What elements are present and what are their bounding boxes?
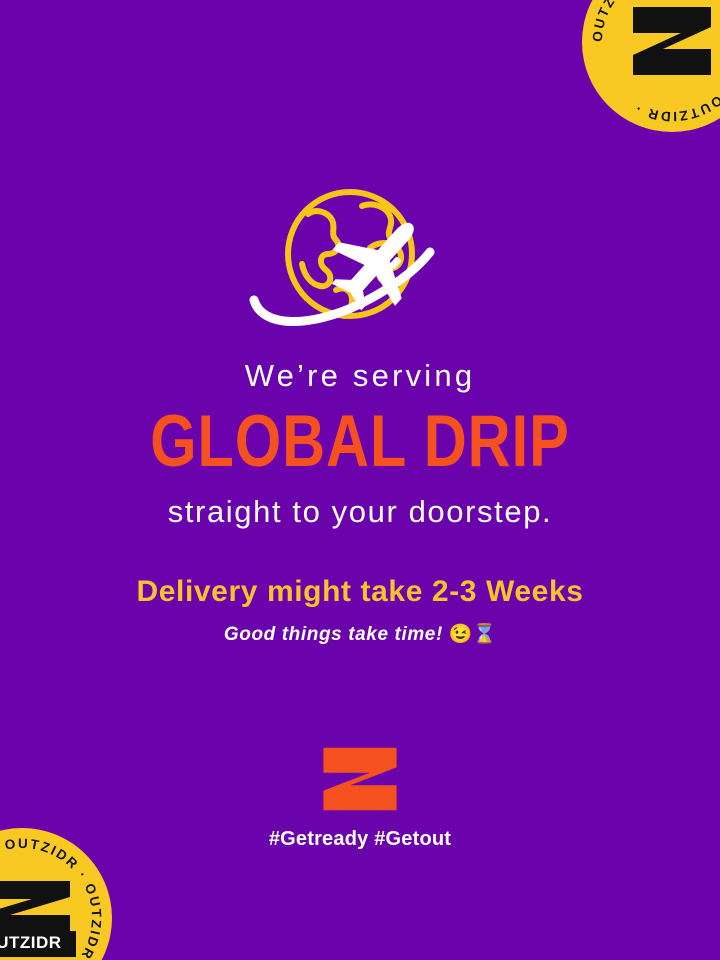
z-logo-icon [0, 879, 74, 937]
hourglass-emoji-icon: ⌛ [472, 624, 496, 645]
badge-core-top-right [618, 5, 720, 79]
brand-z-logo-icon [321, 746, 399, 812]
globe-airplane-illustration [240, 178, 480, 338]
wink-emoji-icon: 😉 [449, 624, 473, 645]
badge-core-bottom-left: OUTZIDR [0, 879, 76, 957]
subline-text: straight to your doorstep. [0, 494, 720, 530]
badge-top-right: OUTZIDR · OUTZIDR · OUTZIDR · OUTZIDR · [582, 0, 720, 132]
copy-block: We’re serving GLOBAL DRIP straight to yo… [0, 358, 720, 647]
page-title: GLOBAL DRIP [14, 406, 705, 479]
tagline-text: Good things take time! [224, 624, 443, 645]
promo-poster: OUTZIDR · OUTZIDR · OUTZIDR · OUTZIDR · [0, 0, 720, 960]
tagline: Good things take time! 😉⌛ [0, 624, 720, 647]
z-logo-icon [629, 5, 715, 79]
kicker-text: We’re serving [0, 358, 720, 394]
badge-wordmark: OUTZIDR [0, 931, 76, 957]
hero-illustration [0, 178, 720, 338]
delivery-notice: Delivery might take 2-3 Weeks [0, 575, 720, 610]
badge-bottom-left: OUTZIDR · OUTZIDR · OUTZIDR · OUTZIDR · … [0, 828, 112, 960]
